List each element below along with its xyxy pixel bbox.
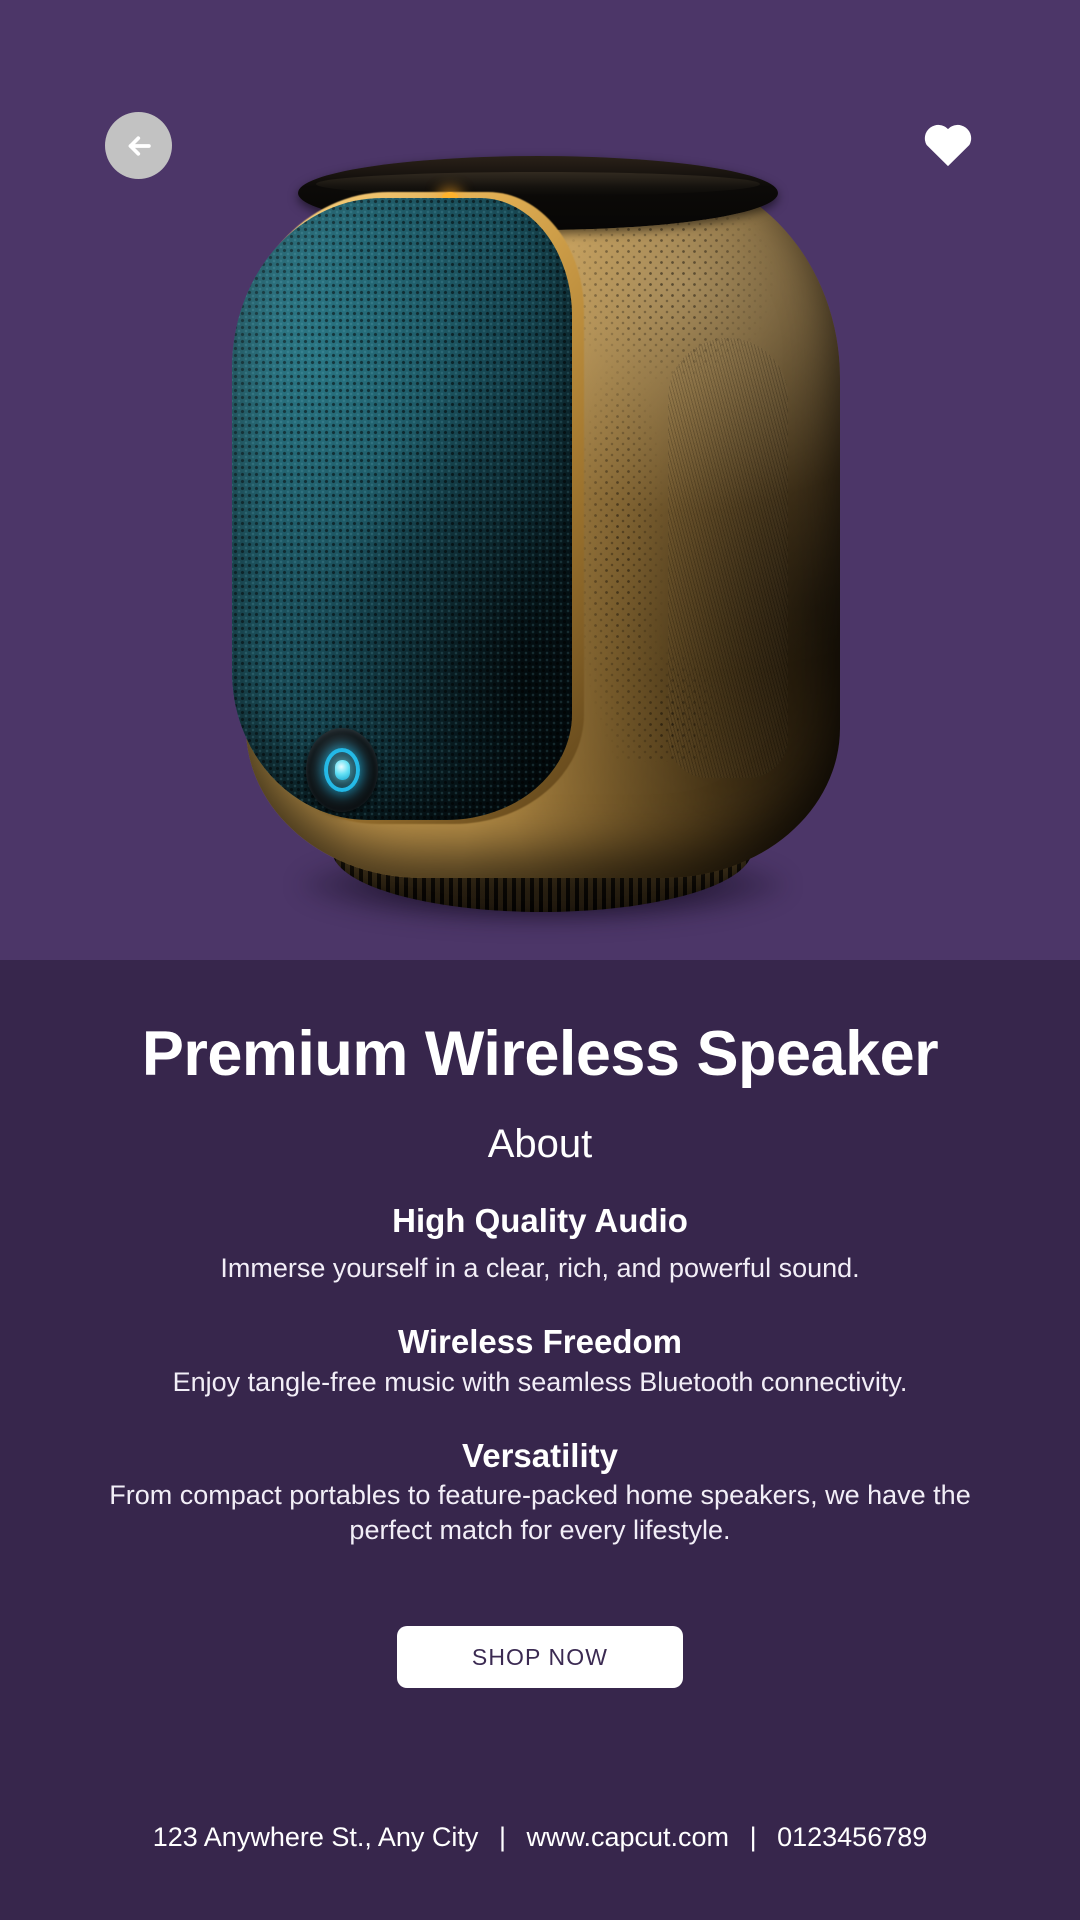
shop-now-button[interactable]: SHOP NOW bbox=[397, 1626, 683, 1688]
feature-description: From compact portables to feature-packed… bbox=[44, 1478, 1036, 1548]
power-led-core bbox=[335, 760, 350, 780]
feature-description: Enjoy tangle-free music with seamless Bl… bbox=[44, 1365, 1036, 1400]
back-button[interactable] bbox=[105, 112, 172, 179]
about-heading: About bbox=[44, 1122, 1036, 1167]
grille-sheen bbox=[232, 198, 572, 820]
footer-separator: | bbox=[737, 1822, 770, 1852]
footer-address: 123 Anywhere St., Any City bbox=[153, 1822, 479, 1852]
cta-container: SHOP NOW bbox=[44, 1626, 1036, 1688]
details-section: Premium Wireless Speaker About High Qual… bbox=[0, 960, 1080, 1920]
feature-item: High Quality Audio Immerse yourself in a… bbox=[44, 1201, 1036, 1286]
speaker-weave-texture bbox=[668, 338, 788, 778]
hero-section bbox=[0, 0, 1080, 960]
arrow-left-icon bbox=[122, 129, 156, 163]
footer-phone[interactable]: 0123456789 bbox=[777, 1822, 927, 1852]
speaker-grille bbox=[232, 198, 572, 820]
product-image bbox=[246, 168, 840, 918]
feature-title: Wireless Freedom bbox=[44, 1322, 1036, 1362]
feature-item: Versatility From compact portables to fe… bbox=[44, 1436, 1036, 1548]
feature-title: Versatility bbox=[44, 1436, 1036, 1476]
footer-website[interactable]: www.capcut.com bbox=[526, 1822, 729, 1852]
heart-filled-icon bbox=[920, 118, 976, 168]
power-button-icon[interactable] bbox=[306, 728, 378, 812]
product-page: Premium Wireless Speaker About High Qual… bbox=[0, 0, 1080, 1920]
feature-title: High Quality Audio bbox=[44, 1201, 1036, 1241]
favorite-button[interactable] bbox=[915, 112, 981, 174]
page-title: Premium Wireless Speaker bbox=[44, 1020, 1036, 1088]
power-led-ring bbox=[324, 748, 360, 792]
feature-item: Wireless Freedom Enjoy tangle-free music… bbox=[44, 1322, 1036, 1399]
footer-contact-bar: 123 Anywhere St., Any City | www.capcut.… bbox=[0, 1822, 1080, 1853]
feature-description: Immerse yourself in a clear, rich, and p… bbox=[44, 1251, 1036, 1286]
footer-separator: | bbox=[486, 1822, 519, 1852]
